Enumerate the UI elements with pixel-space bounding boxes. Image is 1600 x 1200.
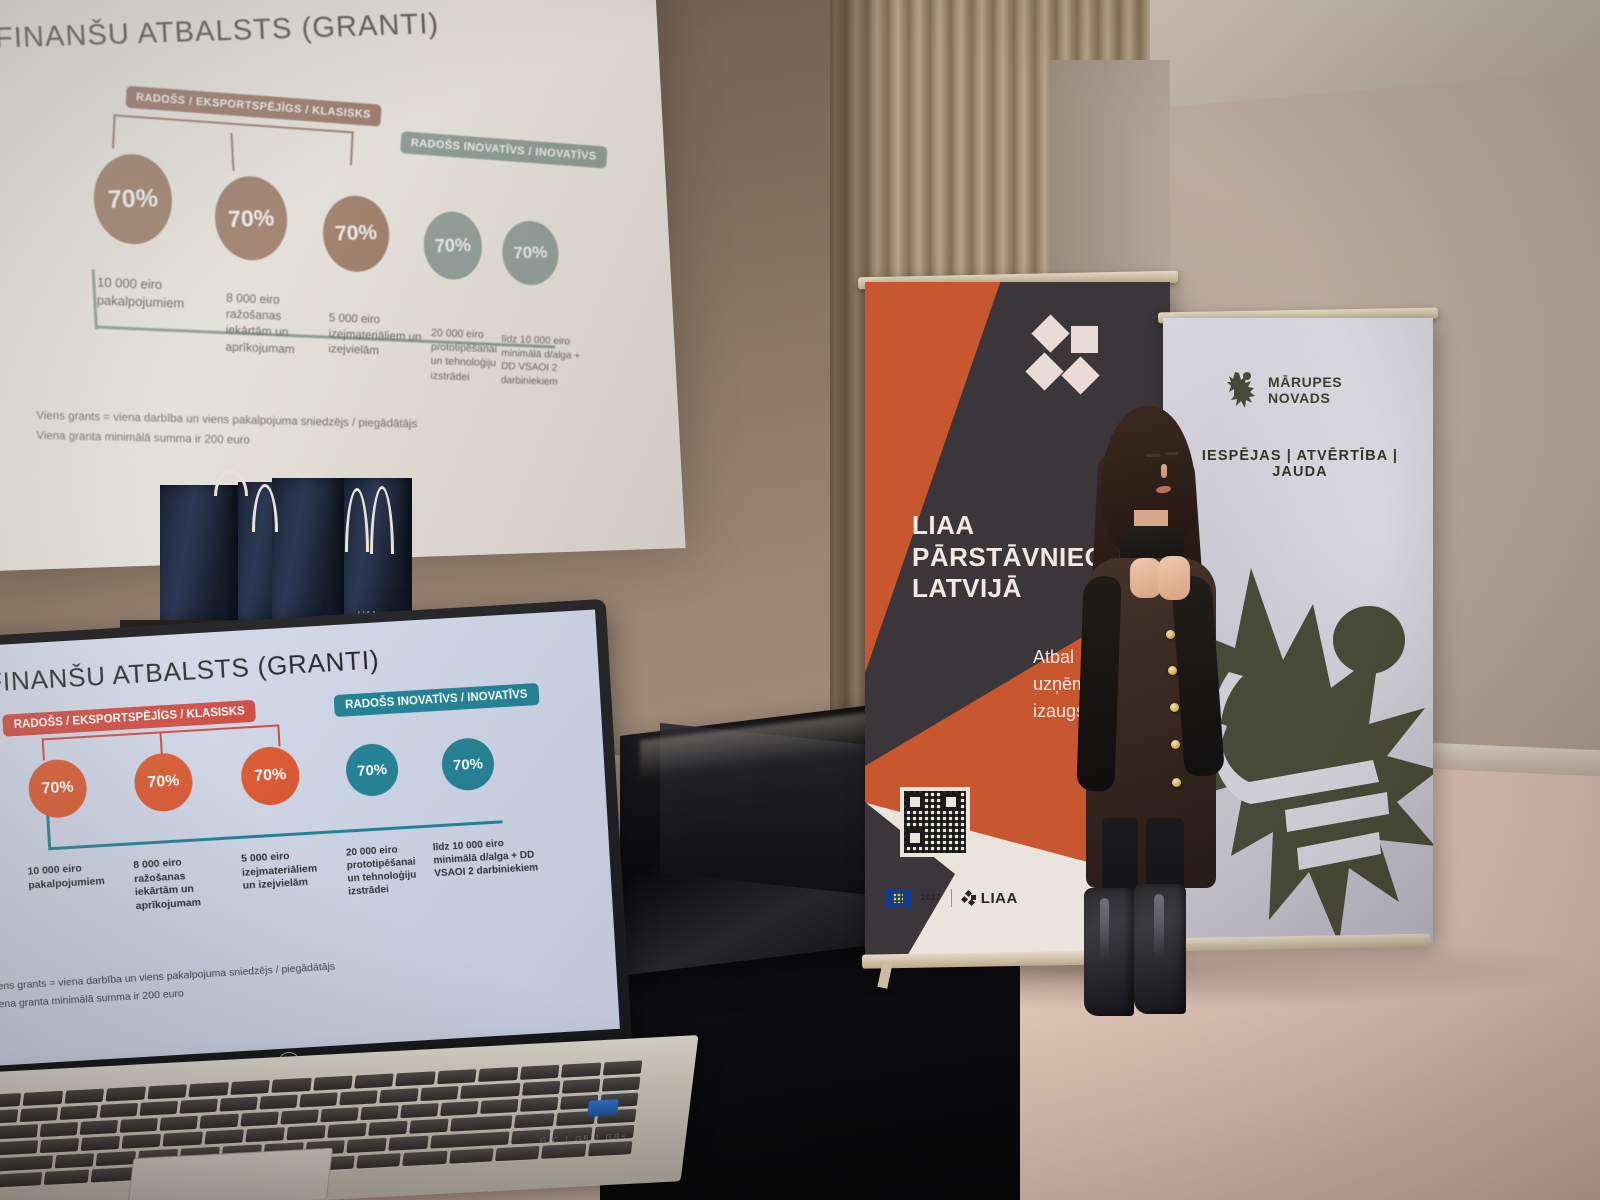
laptop-item-label: 5 000 eiroizejmateriāliem un izejvielām (241, 848, 329, 894)
boot-highlight (1100, 898, 1109, 960)
projected-slide-title: FINANŠU ATBALSTS (GRANTI) (0, 2, 620, 56)
dress-button (1172, 778, 1181, 787)
dress-button (1171, 740, 1180, 749)
laptop-group-a-label: RADOŠS / EKSPORTSPĒJĪGS / KLASISKS (2, 700, 256, 737)
laptop[interactable]: FINANŠU ATBALSTS (GRANTI) RADOŠS / EKSPO… (0, 600, 720, 1200)
intel-sticker (587, 1099, 619, 1117)
eu-flag-icon (885, 890, 911, 907)
left-boot (1084, 888, 1134, 1016)
presentation-room-photo: FINANŠU ATBALSTS (GRANTI) RADOŠS / EKSPO… (0, 0, 1600, 1200)
laptop-bracket (42, 724, 281, 760)
laptop-item-label: 8 000 eiroražošanas iekārtām un aprīkoju… (133, 854, 222, 914)
nose (1161, 464, 1167, 478)
laptop-baseline-h (48, 820, 502, 850)
eyebrow (1166, 452, 1178, 455)
liaa-mini-diamond-icon (962, 891, 976, 905)
eyebrow (1146, 454, 1161, 457)
laptop-percent-circle: 70% (345, 742, 400, 797)
laptop-footnote: Viens grants = viena darbība un viens pa… (0, 958, 337, 1015)
eu-funding-2027-label: 2027 (921, 894, 941, 902)
laptop-slide-title: FINANŠU ATBALSTS (GRANTI) (0, 633, 572, 699)
boot-highlight (1154, 894, 1164, 960)
marupe-wordmark: MĀRUPES NOVADS (1268, 374, 1342, 406)
qr-code[interactable] (900, 787, 970, 857)
eye (1168, 460, 1176, 464)
dress-button (1170, 703, 1179, 712)
laptop-group-b-label: RADOŠS INOVATĪVS / INOVATĪVS (334, 683, 539, 717)
liaa-logo-icon (1023, 320, 1103, 402)
liaa-footer-logo: LIAA (962, 890, 1018, 907)
projected-percent-circle: 70% (91, 153, 174, 245)
laptop-item-label: līdz 10 000 eirominimālā d/alga + DD VSA… (432, 835, 538, 880)
laptop-percent-circle: 70% (27, 758, 88, 819)
laptop-item-label: 10 000 eiropakalpojumiem (27, 860, 118, 893)
left-sleeve (1076, 575, 1121, 791)
projected-percent-circle: 70% (321, 195, 391, 273)
laptop-slide: FINANŠU ATBALSTS (GRANTI) RADOŠS / EKSPO… (0, 609, 620, 1066)
laptop-item-label: 20 000 eiroprototipēšanai un tehnoloģiju… (346, 842, 431, 899)
laptop-screen[interactable]: FINANŠU ATBALSTS (GRANTI) RADOŠS / EKSPO… (0, 609, 620, 1066)
projected-item-label: līdz 10 000 eirominimālā d/alga + DD VSA… (501, 333, 592, 390)
projected-footnote: Viens grants = viena darbība un viens pa… (36, 407, 417, 455)
laptop-percent-circle: 70% (440, 737, 495, 792)
laptop-baseline-v (46, 810, 51, 850)
footer-divider (951, 889, 952, 907)
projected-item-label: 20 000 eiroprototipēšanai un tehnoloģiju… (430, 326, 501, 385)
projected-percent-circle: 70% (213, 175, 290, 261)
projected-group-b-label: RADOŠS INOVATĪVS / INOVATĪVS (400, 131, 607, 168)
presenter (1058, 398, 1258, 1048)
projected-item-label: 8 000 eiroražošanas iekārtām un aprīkoju… (225, 290, 326, 358)
right-hand (1158, 556, 1190, 600)
liaa-footer-wordmark: LIAA (981, 890, 1018, 907)
projected-percent-circle: 70% (422, 211, 484, 281)
projected-item-label: 5 000 eiroizejmateriāliem un izejvielām (328, 311, 429, 361)
projected-percent-circle: 70% (501, 220, 560, 286)
dress-button (1168, 666, 1177, 675)
laptop-percent-circle: 70% (240, 745, 301, 806)
laptop-percent-circle: 70% (133, 752, 194, 813)
laptop-bracket-stem (159, 731, 163, 765)
dress-button (1166, 630, 1175, 639)
projected-item-label: 10 000 eiropakalpojumiem (97, 274, 208, 313)
eye (1147, 462, 1156, 466)
